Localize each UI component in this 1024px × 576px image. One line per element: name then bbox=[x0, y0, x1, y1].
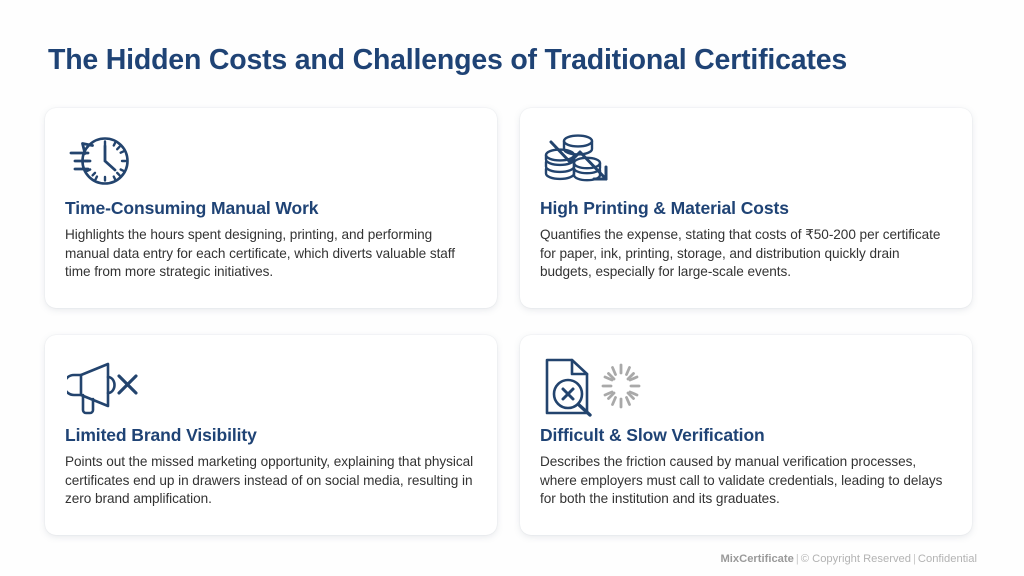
page-title: The Hidden Costs and Challenges of Tradi… bbox=[48, 44, 847, 77]
card-body: Points out the missed marketing opportun… bbox=[65, 453, 477, 509]
card-title: Time-Consuming Manual Work bbox=[65, 198, 477, 219]
card-difficult-slow-verification: Difficult & Slow Verification Describes … bbox=[520, 335, 972, 535]
card-title: High Printing & Material Costs bbox=[540, 198, 952, 219]
footer: MixCertificate|© Copyright Reserved|Conf… bbox=[720, 553, 977, 565]
clock-rewind-icon bbox=[67, 125, 477, 195]
card-body: Highlights the hours spent designing, pr… bbox=[65, 226, 477, 282]
footer-confidentiality: Confidential bbox=[918, 553, 977, 565]
card-title: Difficult & Slow Verification bbox=[540, 425, 952, 446]
card-time-consuming-manual-work: Time-Consuming Manual Work Highlights th… bbox=[45, 108, 497, 308]
footer-separator: | bbox=[794, 553, 801, 565]
card-grid: Time-Consuming Manual Work Highlights th… bbox=[45, 108, 979, 535]
footer-separator: | bbox=[911, 553, 918, 565]
slide-canvas: The Hidden Costs and Challenges of Tradi… bbox=[0, 0, 1024, 576]
document-search-failed-icon bbox=[542, 352, 952, 422]
card-body: Quantifies the expense, stating that cos… bbox=[540, 226, 952, 282]
footer-copyright: © Copyright Reserved bbox=[801, 553, 911, 565]
card-limited-brand-visibility: Limited Brand Visibility Points out the … bbox=[45, 335, 497, 535]
card-body: Describes the friction caused by manual … bbox=[540, 453, 952, 509]
coins-declining-arrow-icon bbox=[542, 125, 952, 195]
footer-brand: MixCertificate bbox=[720, 553, 793, 565]
card-high-printing-material-costs: High Printing & Material Costs Quantifie… bbox=[520, 108, 972, 308]
card-title: Limited Brand Visibility bbox=[65, 425, 477, 446]
megaphone-muted-icon bbox=[67, 352, 477, 422]
